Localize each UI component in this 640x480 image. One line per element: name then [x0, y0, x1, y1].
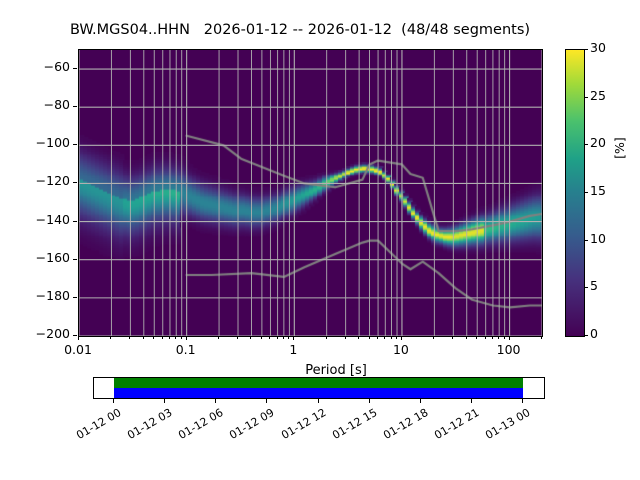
timeline-tick [164, 399, 165, 403]
x-axis-tick [391, 336, 392, 339]
timeline-data-bar [114, 388, 523, 398]
y-axis-tick [73, 68, 77, 69]
colorbar-tick [584, 49, 588, 50]
timeline-date-label: 01-12 03 [120, 406, 175, 445]
colorbar [565, 49, 585, 337]
x-axis-tick [326, 336, 327, 339]
x-axis-title: Period [s] [256, 363, 416, 378]
x-axis-tick [169, 336, 170, 339]
x-axis-tick [485, 336, 486, 339]
x-axis-tick [452, 336, 453, 339]
x-axis-tick [384, 336, 385, 339]
x-axis-tick [129, 336, 130, 339]
x-axis-tick [277, 336, 278, 339]
x-axis-tick [358, 336, 359, 339]
y-axis-tick [73, 106, 77, 107]
y-axis-tick [73, 297, 77, 298]
colorbar-tick [584, 335, 588, 336]
x-axis-tick [369, 336, 370, 339]
x-axis-tick [433, 336, 434, 339]
x-axis-tick [377, 336, 378, 339]
timeline-date-label: 01-12 18 [375, 406, 430, 445]
colorbar-tick-label: 20 [590, 135, 606, 150]
x-axis-tick [175, 336, 176, 339]
ppsd-figure: BW.MGS04..HHN 2026-01-12 -- 2026-01-12 (… [0, 0, 640, 480]
x-axis-tick [498, 336, 499, 339]
timeline-date-label: 01-12 21 [426, 406, 481, 445]
x-axis-tick-label: 10 [371, 342, 431, 357]
y-axis-tick-label: −140 [26, 212, 70, 227]
y-axis-tick [73, 221, 77, 222]
y-axis-tick-label: −200 [26, 326, 70, 341]
colorbar-tick [584, 240, 588, 241]
x-axis-tick [269, 336, 270, 339]
timeline-date-label: 01-12 00 [69, 406, 124, 445]
timeline-tick [369, 399, 370, 403]
x-axis-tick [181, 336, 182, 339]
y-axis-tick-label: −120 [26, 173, 70, 188]
timeline-tick [420, 399, 421, 403]
timeline-tick [522, 399, 523, 403]
y-axis-tick-label: −180 [26, 288, 70, 303]
colorbar-tick-label: 15 [590, 183, 606, 198]
x-axis-tick [110, 336, 111, 339]
x-axis-tick [504, 336, 505, 339]
timeline-tick [113, 399, 114, 403]
x-axis-tick [492, 336, 493, 339]
colorbar-title: [%] [612, 118, 627, 178]
colorbar-tick-label: 0 [590, 326, 598, 341]
colorbar-tick [584, 97, 588, 98]
timeline-date-label: 01-12 15 [324, 406, 379, 445]
y-axis-tick [73, 144, 77, 145]
colorbar-tick-label: 10 [590, 231, 606, 246]
timeline-coverage-bar [114, 378, 523, 388]
colorbar-tick-label: 5 [590, 278, 598, 293]
x-axis-tick [541, 336, 542, 339]
timeline-date-label: 01-13 00 [478, 406, 533, 445]
x-axis-tick [153, 336, 154, 339]
x-axis-tick [237, 336, 238, 339]
x-axis-tick [283, 336, 284, 339]
x-axis-tick [466, 336, 467, 339]
timeline-tick [266, 399, 267, 403]
ppsd-plot-area [78, 49, 543, 337]
y-axis-tick [73, 259, 77, 260]
x-axis-tick-label: 0.01 [48, 342, 108, 357]
x-axis-tick-label: 1 [263, 342, 323, 357]
colorbar-tick-label: 25 [590, 88, 606, 103]
timeline-tick [215, 399, 216, 403]
timeline-strip[interactable] [93, 377, 545, 399]
x-axis-tick-label: 0.1 [156, 342, 216, 357]
x-axis-tick [401, 336, 402, 340]
x-axis-tick [293, 336, 294, 340]
x-axis-tick [143, 336, 144, 339]
y-axis-tick [73, 335, 77, 336]
x-axis-tick [186, 336, 187, 340]
timeline-date-label: 01-12 06 [171, 406, 226, 445]
y-axis-tick-label: −60 [26, 59, 70, 74]
x-axis-tick [476, 336, 477, 339]
figure-title: BW.MGS04..HHN 2026-01-12 -- 2026-01-12 (… [0, 22, 600, 38]
timeline-tick [471, 399, 472, 403]
y-axis-tick-label: −80 [26, 97, 70, 112]
y-axis-tick-label: −160 [26, 250, 70, 265]
x-axis-tick [288, 336, 289, 339]
x-axis-tick [261, 336, 262, 339]
x-axis-tick [78, 336, 79, 340]
colorbar-tick [584, 287, 588, 288]
colorbar-tick [584, 144, 588, 145]
timeline-tick [318, 399, 319, 403]
y-axis-tick-label: −100 [26, 135, 70, 150]
colorbar-tick-label: 30 [590, 40, 606, 55]
timeline-date-label: 01-12 12 [273, 406, 328, 445]
x-axis-tick-label: 100 [479, 342, 539, 357]
x-axis-tick [250, 336, 251, 339]
ppsd-density-heatmap [79, 50, 542, 336]
x-axis-tick [396, 336, 397, 339]
x-axis-tick [509, 336, 510, 340]
x-axis-tick [345, 336, 346, 339]
timeline-date-label: 01-12 09 [222, 406, 277, 445]
x-axis-tick [162, 336, 163, 339]
y-axis-tick [73, 182, 77, 183]
x-axis-tick [218, 336, 219, 339]
colorbar-tick [584, 192, 588, 193]
